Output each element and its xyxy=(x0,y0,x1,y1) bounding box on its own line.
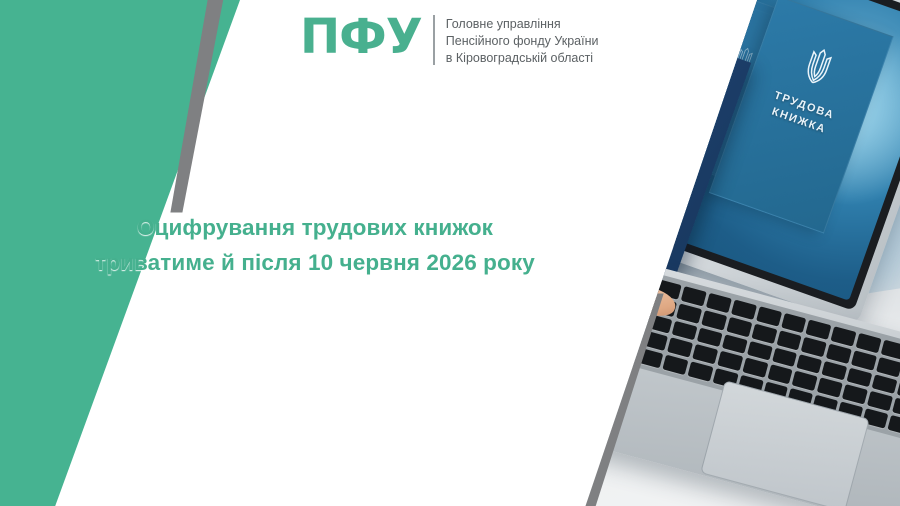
logo-subtitle-line-1: Головне управління xyxy=(446,16,599,33)
labour-book-card-title: ТРУДОВА КНИЖКА xyxy=(767,87,837,138)
headline-line-1: Оцифрування трудових книжок xyxy=(0,210,630,245)
trident-icon xyxy=(560,97,584,140)
pfu-logo-mark: ПФУ xyxy=(300,12,422,62)
pfu-logo-subtitle: Головне управління Пенсійного фонду Укра… xyxy=(446,12,599,67)
promo-banner: ТРУДОВА КНИЖКА РУДОВА НИЖКА xyxy=(0,0,900,506)
pfu-logo: ПФУ Головне управління Пенсійного фонду … xyxy=(300,12,598,67)
headline: Оцифрування трудових книжок триватиме й … xyxy=(0,210,630,280)
logo-subtitle-line-3: в Кіровоградській області xyxy=(446,50,599,67)
logo-divider xyxy=(433,15,435,65)
trident-icon xyxy=(800,45,837,88)
trident-emblem-wrap-booklet xyxy=(560,97,584,144)
logo-subtitle-line-2: Пенсійного фонду України xyxy=(446,33,599,50)
headline-line-2: триватиме й після 10 червня 2026 року xyxy=(0,245,630,280)
